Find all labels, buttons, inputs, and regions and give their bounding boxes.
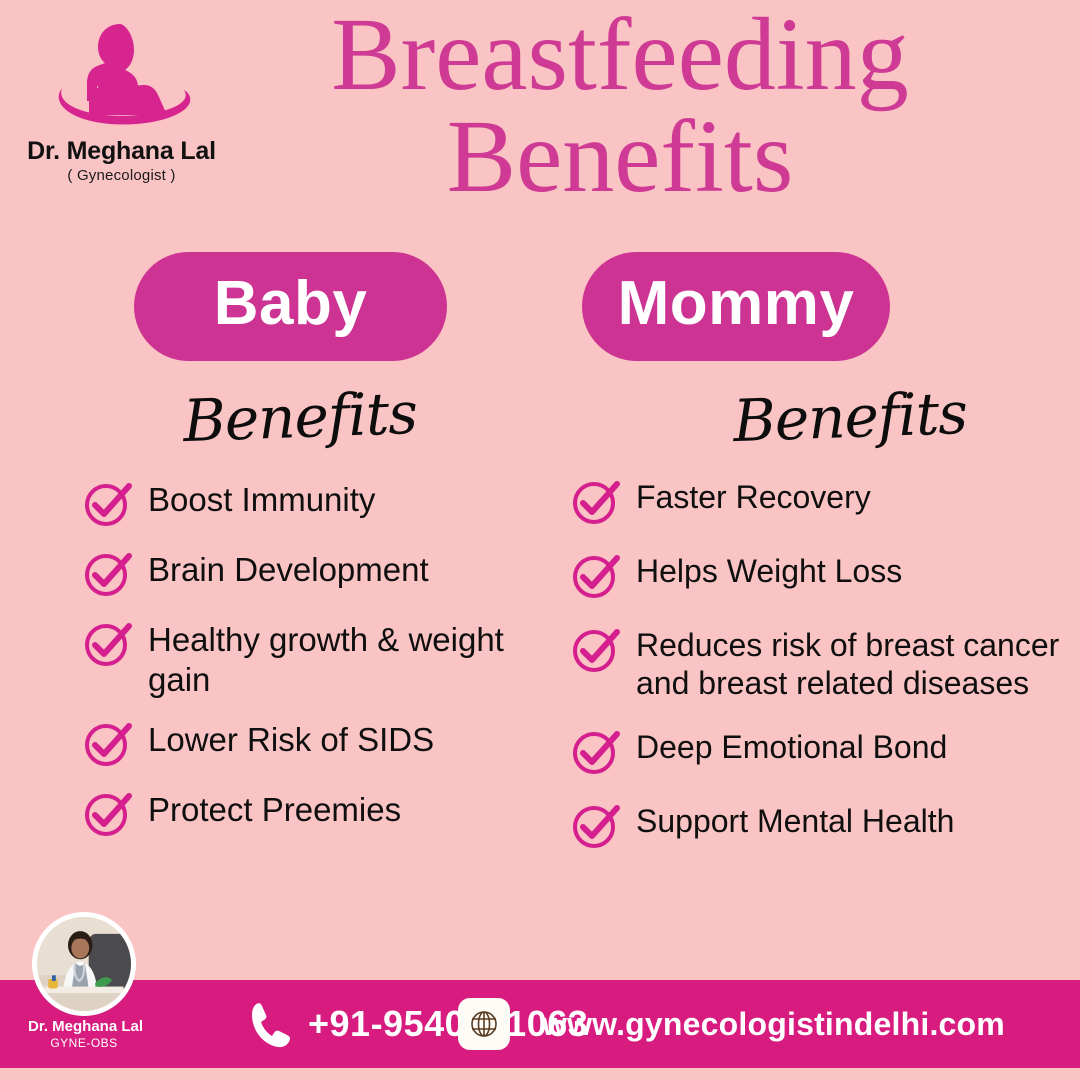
benefits-list-mommy: Faster Recovery Helps Weight Loss Reduce…	[570, 473, 1060, 851]
benefit-label: Reduces risk of breast cancer and breast…	[636, 621, 1060, 703]
contact-footer-bar: +91-9540951063 www.gynecologistindelhi.c…	[0, 980, 1080, 1068]
doctor-name: Dr. Meghana Lal	[28, 1018, 140, 1035]
brand-logo-block: Dr. Meghana Lal ( Gynecologist )	[14, 16, 229, 184]
benefit-label: Protect Preemies	[148, 785, 401, 830]
benefit-label: Helps Weight Loss	[636, 547, 902, 590]
circle-check-icon	[570, 549, 622, 601]
pill-mommy: Mommy	[582, 252, 890, 361]
page-title-line2: Benefits	[230, 106, 1010, 208]
list-item: Helps Weight Loss	[570, 547, 1060, 601]
doctor-badge: Dr. Meghana Lal GYNE-OBS	[28, 912, 140, 1050]
page-title-line1: Breastfeeding	[230, 4, 1010, 106]
benefit-label: Brain Development	[148, 545, 429, 590]
doctor-portrait-illustration	[37, 917, 131, 1011]
list-item: Support Mental Health	[570, 797, 1060, 851]
circle-check-icon	[570, 799, 622, 851]
pregnant-woman-logo-icon	[32, 16, 212, 136]
script-heading-baby: Benefits	[89, 376, 511, 459]
list-item: Brain Development	[82, 545, 512, 599]
benefit-label: Healthy growth & weight gain	[148, 615, 512, 699]
list-item: Reduces risk of breast cancer and breast…	[570, 621, 1060, 703]
brand-specialty: ( Gynecologist )	[14, 167, 229, 184]
brand-name: Dr. Meghana Lal	[14, 138, 229, 164]
benefit-label: Support Mental Health	[636, 797, 954, 840]
website-group[interactable]: www.gynecologistindelhi.com	[458, 998, 1005, 1050]
circle-check-icon	[82, 787, 134, 839]
page-title: Breastfeeding Benefits	[230, 4, 1010, 208]
globe-icon-tile	[458, 998, 510, 1050]
column-baby: Baby Benefits Boost Immunity Brain Devel…	[30, 252, 510, 855]
column-mommy: Mommy Benefits Faster Recovery Helps Wei…	[560, 252, 1040, 871]
benefit-label: Lower Risk of SIDS	[148, 715, 434, 760]
circle-check-icon	[82, 547, 134, 599]
poster-canvas: Dr. Meghana Lal ( Gynecologist ) Breastf…	[0, 0, 1080, 1080]
list-item: Lower Risk of SIDS	[82, 715, 512, 769]
pill-baby: Baby	[134, 252, 447, 361]
website-url: www.gynecologistindelhi.com	[542, 1006, 1005, 1043]
doctor-role: GYNE-OBS	[28, 1036, 140, 1050]
circle-check-icon	[82, 717, 134, 769]
circle-check-icon	[82, 477, 134, 529]
benefits-list-baby: Boost Immunity Brain Development Healthy…	[82, 475, 512, 839]
phone-icon	[250, 999, 294, 1049]
script-heading-mommy: Benefits	[659, 376, 1041, 457]
circle-check-icon	[570, 725, 622, 777]
list-item: Faster Recovery	[570, 473, 1060, 527]
benefit-label: Boost Immunity	[148, 475, 375, 520]
list-item: Deep Emotional Bond	[570, 723, 1060, 777]
circle-check-icon	[82, 617, 134, 669]
avatar	[32, 912, 136, 1016]
list-item: Protect Preemies	[82, 785, 512, 839]
circle-check-icon	[570, 475, 622, 527]
benefit-label: Faster Recovery	[636, 473, 871, 516]
circle-check-icon	[570, 623, 622, 675]
list-item: Boost Immunity	[82, 475, 512, 529]
globe-icon	[467, 1007, 501, 1041]
benefit-label: Deep Emotional Bond	[636, 723, 947, 766]
list-item: Healthy growth & weight gain	[82, 615, 512, 699]
